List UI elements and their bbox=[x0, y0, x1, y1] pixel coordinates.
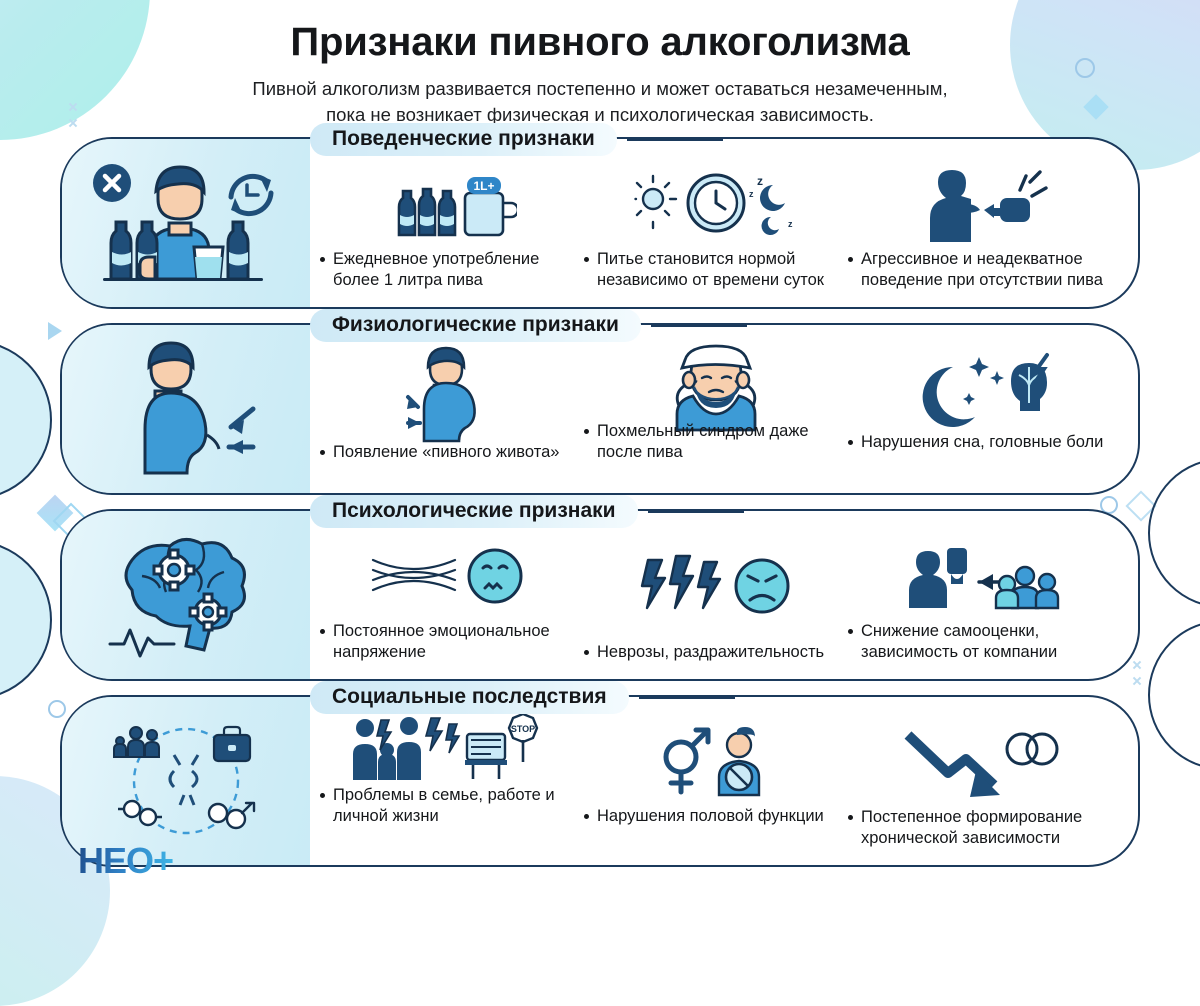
section-item-social-3: Постепенное формирование хронической зав… bbox=[848, 713, 1112, 855]
bullet-social-3: Постепенное формирование хронической зав… bbox=[848, 807, 1112, 855]
section-card-social: Социальные последствия bbox=[60, 695, 1140, 867]
bullet-dot bbox=[848, 440, 853, 445]
bullet-psychological-1: Постоянное эмоциональное напряжение bbox=[320, 621, 584, 669]
section-illustration-physiological bbox=[62, 325, 310, 493]
page-header: Признаки пивного алкоголизма Пивной алко… bbox=[0, 0, 1200, 127]
svg-text:z: z bbox=[788, 219, 793, 229]
beer-belly-profile-icon bbox=[320, 349, 584, 442]
bullet-text: Ежедневное употребление более 1 литра пи… bbox=[333, 249, 584, 291]
section-heading-psychological: Психологические признаки bbox=[310, 495, 744, 528]
section-card-behavioral: Поведенческие признаки bbox=[60, 137, 1140, 309]
bullet-social-1: Проблемы в семье, работе и личной жизни bbox=[320, 785, 584, 855]
section-body-physiological: Появление «пивного живота» bbox=[310, 325, 1138, 493]
bullet-physiological-2: Похмельный синдром даже после пива bbox=[584, 421, 848, 483]
section-item-social-2: Нарушения половой функции bbox=[584, 713, 848, 855]
svg-text:1L+: 1L+ bbox=[473, 179, 494, 193]
bullet-dot bbox=[320, 629, 325, 634]
section-item-physiological-1: Появление «пивного живота» bbox=[320, 341, 584, 483]
downward-arrow-rings-icon bbox=[848, 721, 1112, 807]
moon-brain-insomnia-icon bbox=[848, 349, 1112, 432]
section-heading-label: Физиологические признаки bbox=[310, 309, 641, 342]
section-item-behavioral-1: 1L+ Ежедневное употребление более 1 литр… bbox=[320, 155, 584, 297]
section-item-behavioral-3: Агрессивное и неадекватное поведение при… bbox=[848, 155, 1112, 297]
bullet-text: Нарушения половой функции bbox=[597, 806, 824, 827]
clock-day-night-icon: z z z bbox=[584, 163, 848, 249]
bullet-dot bbox=[584, 429, 589, 434]
section-heading-rule bbox=[651, 324, 747, 327]
family-conflict-work-stop-icon: STOP bbox=[320, 715, 584, 785]
section-item-social-1: STOP Проблемы в семье, работе и личной ж… bbox=[320, 713, 584, 855]
bullet-dot bbox=[584, 814, 589, 819]
bullet-text: Появление «пивного живота» bbox=[333, 442, 559, 463]
brand-logo: НЕО+ bbox=[78, 840, 173, 882]
bullet-psychological-2: Неврозы, раздражительность bbox=[584, 642, 824, 669]
svg-text:z: z bbox=[749, 189, 754, 199]
section-heading-label: Психологические признаки bbox=[310, 495, 638, 528]
svg-text:z: z bbox=[757, 174, 763, 188]
bullet-physiological-1: Появление «пивного живота» bbox=[320, 442, 559, 483]
section-item-psychological-2: Неврозы, раздражительность bbox=[584, 527, 848, 669]
lightning-angry-face-icon bbox=[584, 535, 848, 642]
page-subtitle-line-1: Пивной алкоголизм развивается постепенно… bbox=[0, 76, 1200, 102]
section-illustration-psychological bbox=[62, 511, 310, 679]
beer-bottles-1l-icon: 1L+ bbox=[320, 163, 584, 249]
section-item-psychological-1: Постоянное эмоциональное напряжение bbox=[320, 527, 584, 669]
bullet-dot bbox=[848, 257, 853, 262]
section-heading-label: Поведенческие признаки bbox=[310, 123, 617, 156]
section-heading-rule bbox=[627, 138, 723, 141]
thumbs-down-group-icon bbox=[848, 535, 1112, 621]
bullet-dot bbox=[584, 257, 589, 262]
bullet-dot bbox=[320, 450, 325, 455]
sections-container: Поведенческие признаки bbox=[0, 127, 1200, 867]
gender-symbol-block-icon bbox=[584, 721, 848, 806]
bullet-text: Питье становится нормой независимо от вр… bbox=[597, 249, 848, 291]
bullet-psychological-3: Снижение самооценки, зависимость от комп… bbox=[848, 621, 1112, 669]
bullet-dot bbox=[320, 257, 325, 262]
section-item-physiological-3: Нарушения сна, головные боли bbox=[848, 341, 1112, 483]
man-with-belly-icon bbox=[111, 339, 261, 479]
section-item-physiological-2: Похмельный синдром даже после пива bbox=[584, 341, 848, 483]
section-body-behavioral: 1L+ Ежедневное употребление более 1 литр… bbox=[310, 139, 1138, 307]
page-title: Признаки пивного алкоголизма bbox=[0, 20, 1200, 64]
page-subtitle: Пивной алкоголизм развивается постепенно… bbox=[0, 76, 1200, 127]
bullet-text: Агрессивное и неадекватное поведение при… bbox=[861, 249, 1112, 291]
section-heading-rule bbox=[648, 510, 744, 513]
bullet-text: Снижение самооценки, зависимость от комп… bbox=[861, 621, 1112, 663]
bullet-text: Проблемы в семье, работе и личной жизни bbox=[333, 785, 584, 827]
shouting-man-fist-icon bbox=[848, 163, 1112, 249]
bullet-dot bbox=[848, 815, 853, 820]
section-heading-rule bbox=[639, 696, 735, 699]
bullet-social-2: Нарушения половой функции bbox=[584, 806, 824, 855]
section-heading-social: Социальные последствия bbox=[310, 681, 735, 714]
bullet-text: Постепенное формирование хронической зав… bbox=[861, 807, 1112, 849]
bullet-dot bbox=[584, 650, 589, 655]
bullet-text: Нарушения сна, головные боли bbox=[861, 432, 1103, 453]
tension-sad-face-icon bbox=[320, 535, 584, 621]
bullet-text: Неврозы, раздражительность bbox=[597, 642, 824, 663]
man-with-beer-bottles-icon bbox=[81, 157, 291, 289]
broken-chain-family-work-icon bbox=[96, 717, 276, 845]
section-item-psychological-3: Снижение самооценки, зависимость от комп… bbox=[848, 527, 1112, 669]
hangover-headache-icon bbox=[584, 347, 848, 421]
section-illustration-behavioral bbox=[62, 139, 310, 307]
section-heading-physiological: Физиологические признаки bbox=[310, 309, 747, 342]
bullet-text: Постоянное эмоциональное напряжение bbox=[333, 621, 584, 663]
bullet-behavioral-2: Питье становится нормой независимо от вр… bbox=[584, 249, 848, 297]
bullet-dot bbox=[320, 793, 325, 798]
section-heading-behavioral: Поведенческие признаки bbox=[310, 123, 723, 156]
bullet-text: Похмельный синдром даже после пива bbox=[597, 421, 848, 463]
section-body-psychological: Постоянное эмоциональное напряжение bbox=[310, 511, 1138, 679]
section-card-psychological: Психологические признаки bbox=[60, 509, 1140, 681]
section-card-physiological: Физиологические признаки bbox=[60, 323, 1140, 495]
section-item-behavioral-2: z z z Питье становится нормой независимо… bbox=[584, 155, 848, 297]
bullet-physiological-3: Нарушения сна, головные боли bbox=[848, 432, 1103, 483]
bullet-behavioral-1: Ежедневное употребление более 1 литра пи… bbox=[320, 249, 584, 297]
bullet-behavioral-3: Агрессивное и неадекватное поведение при… bbox=[848, 249, 1112, 297]
svg-text:STOP: STOP bbox=[511, 724, 535, 734]
brain-gears-icon bbox=[96, 530, 276, 660]
section-body-social: STOP Проблемы в семье, работе и личной ж… bbox=[310, 697, 1138, 865]
section-heading-label: Социальные последствия bbox=[310, 681, 629, 714]
bullet-dot bbox=[848, 629, 853, 634]
